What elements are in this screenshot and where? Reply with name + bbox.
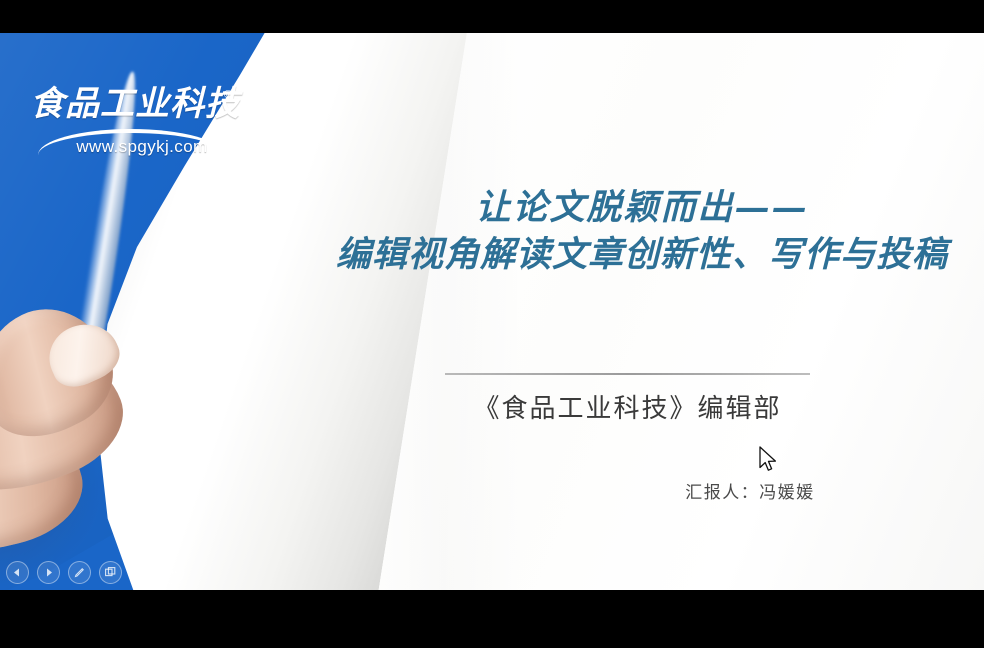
pen-annotate-icon[interactable] bbox=[68, 561, 91, 584]
screenshot-icon[interactable] bbox=[99, 561, 122, 584]
letterbox-top bbox=[0, 0, 984, 33]
letterbox-bottom bbox=[0, 590, 984, 648]
journal-website-label: www.spgykj.com bbox=[52, 137, 232, 157]
player-toolbar[interactable] bbox=[6, 561, 184, 584]
presenter-label: 汇报人：冯媛媛 bbox=[600, 478, 900, 503]
presentation-slide[interactable]: 食品工业科技 ® www.spgykj.com 让论文脱颖而出—— 编辑视角解读… bbox=[0, 33, 984, 590]
organization-label: 《食品工业科技》编辑部 bbox=[445, 388, 810, 425]
journal-logo-name: 食品工业科技 bbox=[30, 87, 230, 121]
previous-slide-icon[interactable] bbox=[6, 561, 29, 584]
next-slide-icon[interactable] bbox=[37, 561, 60, 584]
registered-trademark-icon: ® bbox=[224, 89, 232, 101]
title-divider bbox=[445, 373, 810, 375]
slide-title-line-1: 让论文脱颖而出—— bbox=[300, 185, 984, 232]
zoom-icon[interactable] bbox=[130, 561, 153, 584]
slide-title-line-2: 编辑视角解读文章创新性、写作与投稿 bbox=[300, 232, 984, 279]
screen-root: 食品工业科技 ® www.spgykj.com 让论文脱颖而出—— 编辑视角解读… bbox=[0, 0, 984, 648]
journal-logo: 食品工业科技 ® www.spgykj.com bbox=[30, 87, 230, 179]
hand-illustration bbox=[0, 333, 168, 590]
more-options-icon[interactable] bbox=[161, 561, 184, 584]
slide-title: 让论文脱颖而出—— 编辑视角解读文章创新性、写作与投稿 bbox=[300, 185, 984, 279]
